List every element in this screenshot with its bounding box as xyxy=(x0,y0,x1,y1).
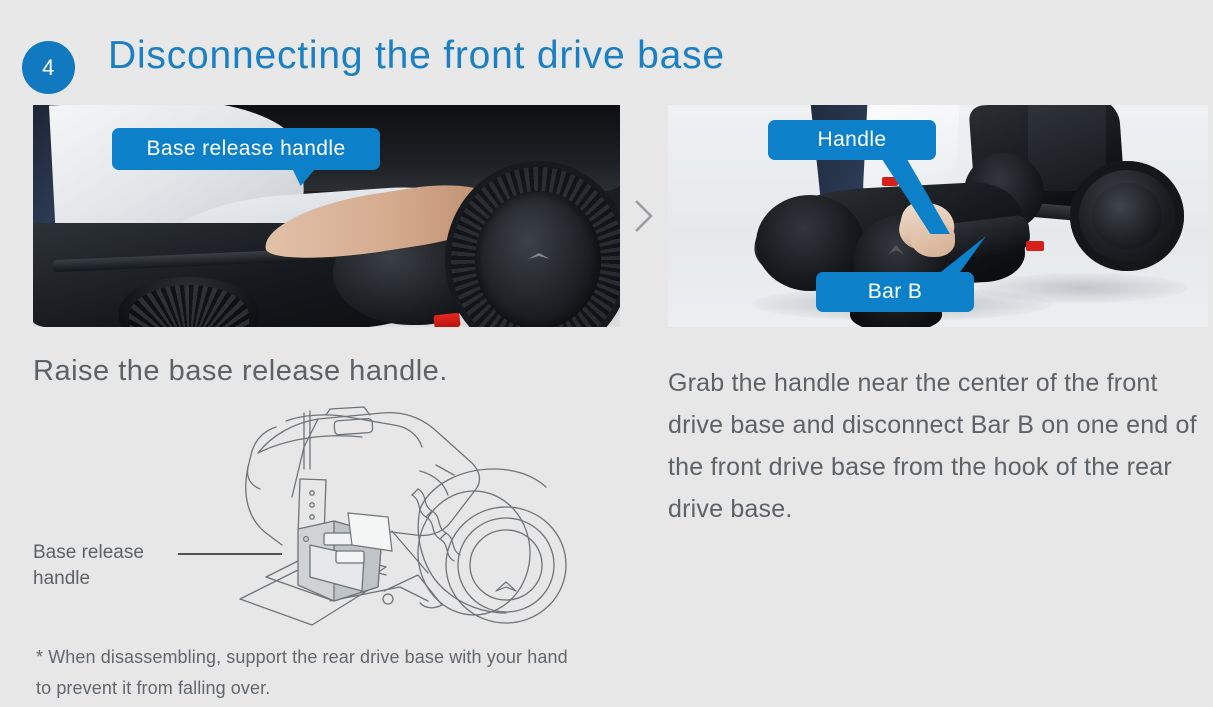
footnote-line-1: * When disassembling, support the rear d… xyxy=(36,642,796,673)
page-title: Disconnecting the front drive base xyxy=(108,34,725,78)
callout-bar-b: Bar B xyxy=(816,272,974,312)
callout-bar-b-label: Bar B xyxy=(868,280,923,304)
diagram-leader-line xyxy=(178,553,282,555)
step-header: 4 Disconnecting the front drive base xyxy=(14,14,1213,98)
instruction-page: 4 Disconnecting the front drive base Bas… xyxy=(0,0,1213,707)
caption-left: Raise the base release handle. xyxy=(33,355,448,388)
callout-base-release-handle: Base release handle xyxy=(112,128,380,170)
diagram-label-line-2: handle xyxy=(33,566,183,592)
photo-right-red-lever-lower xyxy=(1026,241,1044,251)
footnote-line-2: to prevent it from falling over. xyxy=(36,673,796,704)
photo-left-red-lever xyxy=(433,313,460,327)
line-art-diagram xyxy=(224,405,586,633)
caption-right: Grab the handle near the center of the f… xyxy=(668,362,1208,530)
diagram-label-base-release-handle: Base release handle xyxy=(33,540,183,592)
chevron-right-icon xyxy=(634,199,656,233)
callout-handle-label: Handle xyxy=(818,128,887,152)
footnote: * When disassembling, support the rear d… xyxy=(36,642,796,704)
callout-base-release-handle-label: Base release handle xyxy=(146,137,345,161)
diagram-label-line-1: Base release xyxy=(33,540,183,566)
photo-right-rear-wheel-right xyxy=(1070,161,1184,271)
step-number-badge: 4 xyxy=(22,41,75,94)
callout-handle: Handle xyxy=(768,120,936,160)
